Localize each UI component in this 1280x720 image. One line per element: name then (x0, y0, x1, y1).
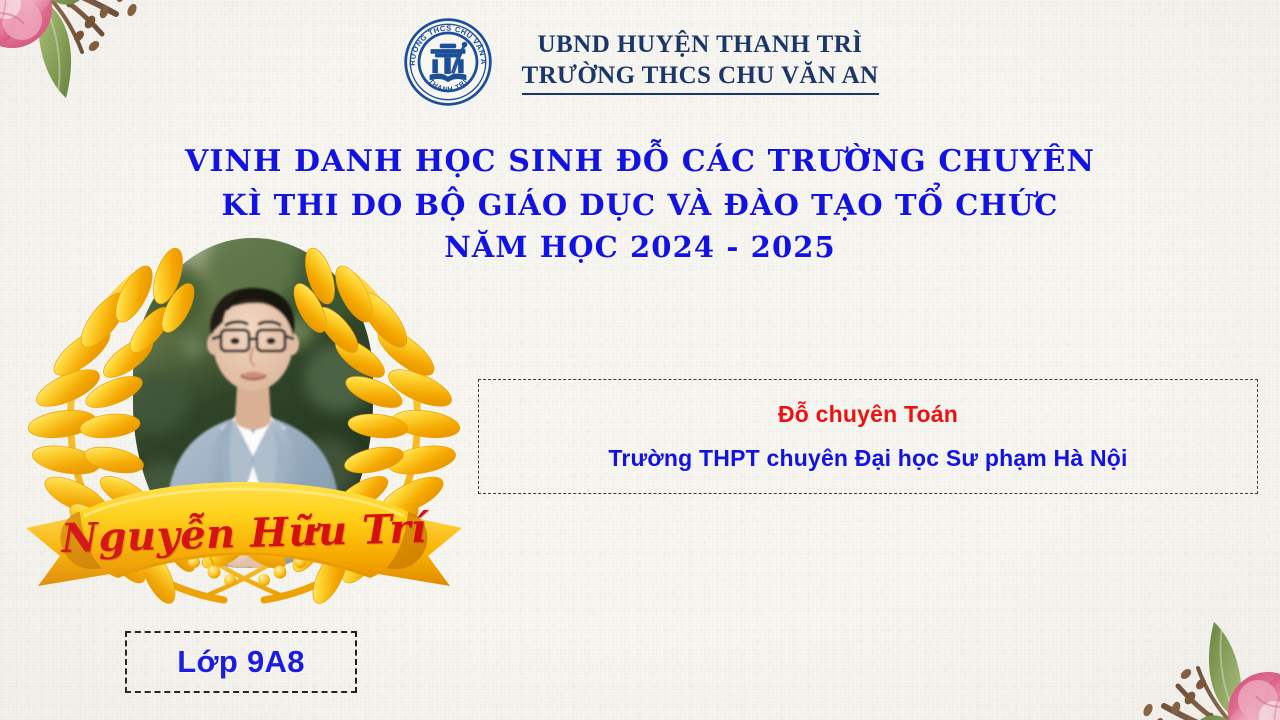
title-line-1: VINH DANH HỌC SINH ĐỖ CÁC TRƯỜNG CHUYÊN (0, 140, 1280, 184)
award-box: Đỗ chuyên Toán Trường THPT chuyên Đại họ… (478, 379, 1258, 494)
school-logo-icon: TRƯỜNG THCS CHU VĂN AN THANH TRÌ (402, 16, 494, 108)
header-text-block: UBND HUYỆN THANH TRÌ TRƯỜNG THCS CHU VĂN… (522, 29, 879, 96)
bottom-right-floral-decoration (1068, 551, 1280, 720)
award-school-label: Trường THPT chuyên Đại học Sư phạm Hà Nộ… (608, 445, 1127, 472)
title-line-2: KÌ THI DO BỘ GIÁO DỤC VÀ ĐÀO TẠO TỔ CHỨC (0, 184, 1280, 226)
award-major-label: Đỗ chuyên Toán (778, 401, 958, 428)
header-authority-line: UBND HUYỆN THANH TRÌ (522, 29, 879, 60)
slide-canvas: TRƯỜNG THCS CHU VĂN AN THANH TRÌ UBND HU… (0, 0, 1280, 720)
class-label: Lớp 9A8 (177, 644, 305, 680)
class-box: Lớp 9A8 (125, 631, 357, 693)
header: TRƯỜNG THCS CHU VĂN AN THANH TRÌ UBND HU… (0, 16, 1280, 108)
award-medallion: Nguyễn Hữu Trí (18, 228, 470, 628)
header-school-line: TRƯỜNG THCS CHU VĂN AN (522, 60, 879, 96)
